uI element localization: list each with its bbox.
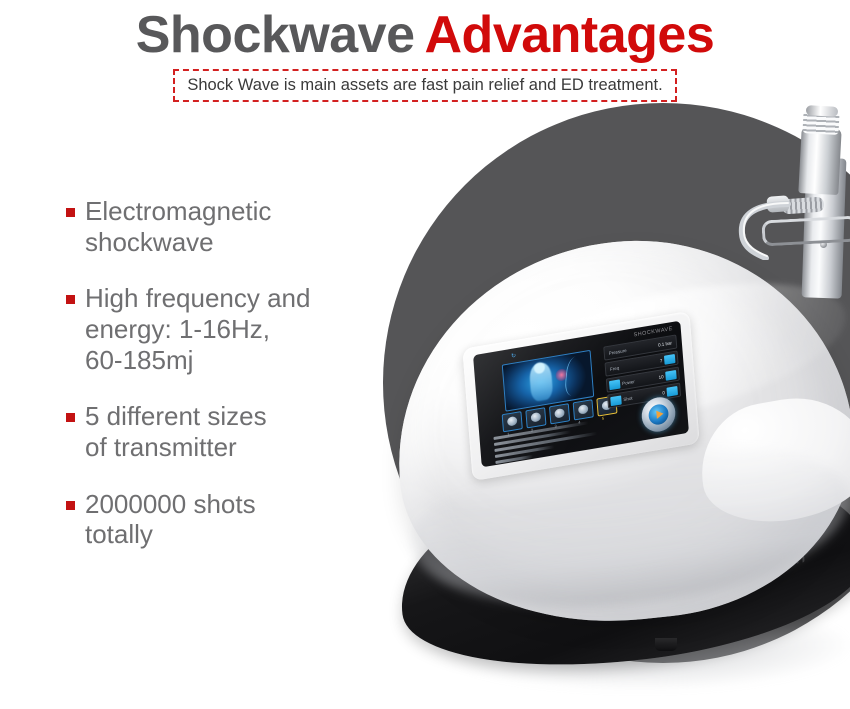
bullet-square-icon xyxy=(66,208,75,217)
title-main: Shockwave xyxy=(136,6,415,64)
feature-text: High frequency and energy: 1-16Hz, 60-18… xyxy=(85,283,310,375)
page-title: ShockwaveAdvantages xyxy=(0,0,850,63)
backdrop-circle xyxy=(383,103,850,663)
applicator-transmitter xyxy=(802,111,839,135)
feature-text: Electromagnetic shockwave xyxy=(85,196,271,257)
bullet-square-icon xyxy=(66,295,75,304)
applicator-cap xyxy=(806,105,838,117)
feature-text: 2000000 shots totally xyxy=(85,489,256,550)
bullet-square-icon xyxy=(66,501,75,510)
subtitle-text: Shock Wave is main assets are fast pain … xyxy=(187,76,662,94)
feature-list: Electromagnetic shockwave High frequency… xyxy=(66,196,386,576)
list-item: Electromagnetic shockwave xyxy=(66,196,386,257)
banner-header: ShockwaveAdvantages Shock Wave is main a… xyxy=(0,0,850,102)
list-item: 2000000 shots totally xyxy=(66,489,386,550)
list-item: High frequency and energy: 1-16Hz, 60-18… xyxy=(66,283,386,375)
list-item: 5 different sizes of transmitter xyxy=(66,401,386,462)
bullet-square-icon xyxy=(66,413,75,422)
product-banner: ↻ SHOCKWAVE 1 2 3 4 xyxy=(0,0,850,709)
title-accent: Advantages xyxy=(425,6,715,64)
subtitle-box: Shock Wave is main assets are fast pain … xyxy=(173,69,676,103)
feature-text: 5 different sizes of transmitter xyxy=(85,401,267,462)
